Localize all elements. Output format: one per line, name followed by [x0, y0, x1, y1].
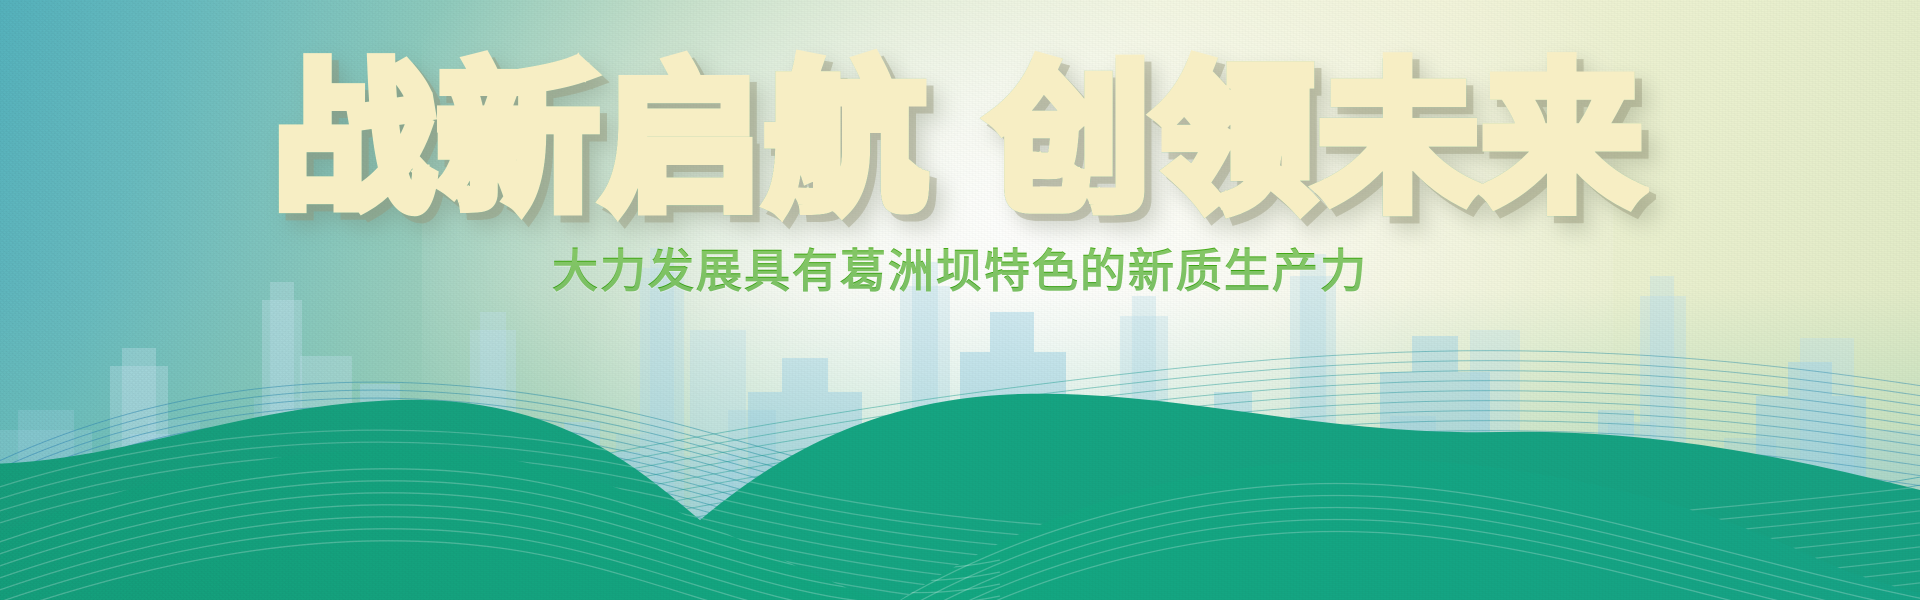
- background-noise-left: [0, 0, 730, 600]
- hero-banner: 战新启航 创领未来 大力发展具有葛洲坝特色的新质生产力: [0, 0, 1920, 600]
